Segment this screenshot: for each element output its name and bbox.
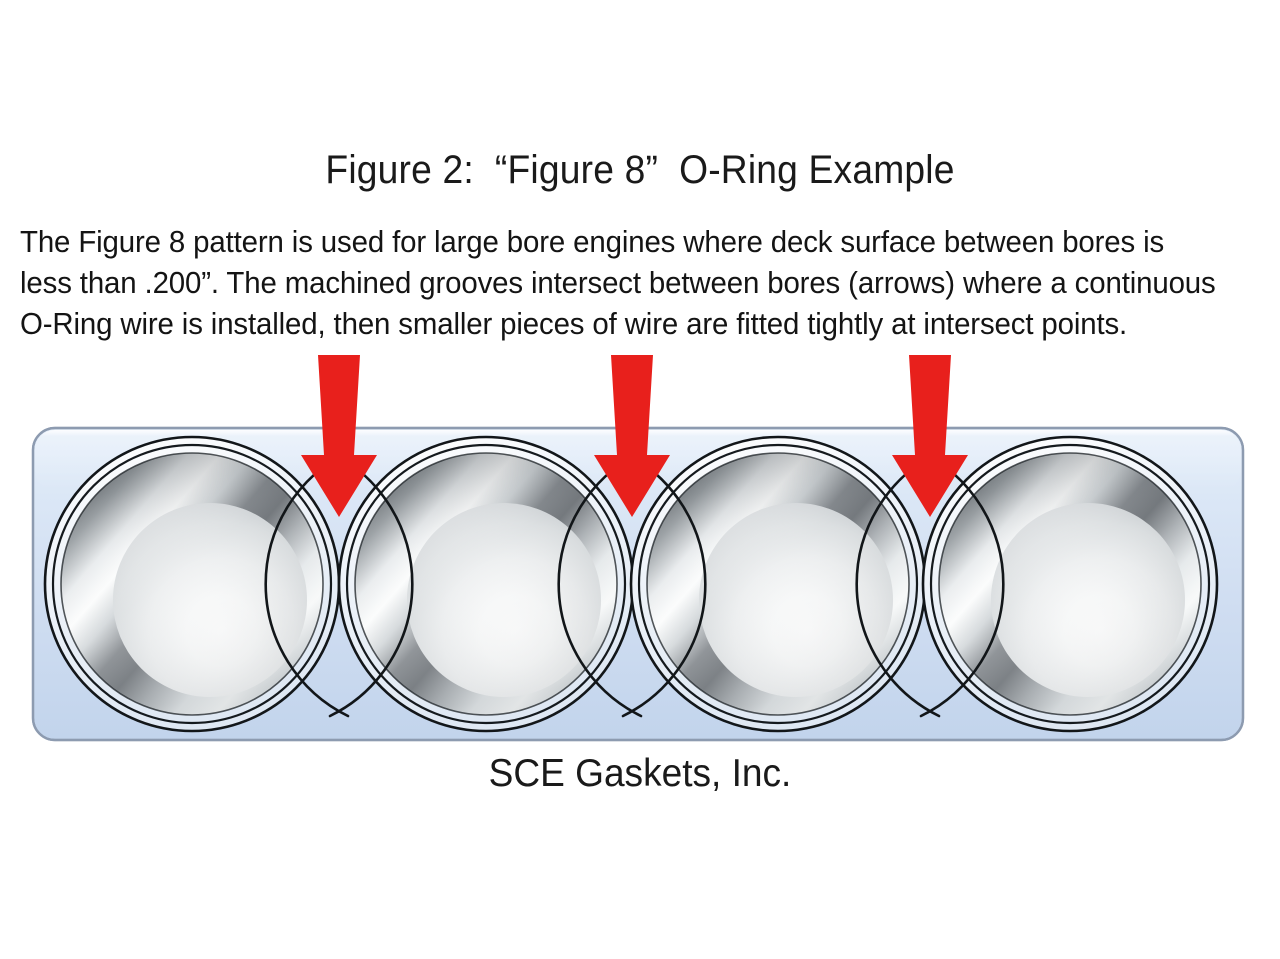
down-arrow-icon-1 xyxy=(301,355,377,517)
down-arrow-icon-2 xyxy=(594,355,670,517)
figure-root: Figure 2: “Figure 8” O-Ring Example The … xyxy=(0,0,1280,959)
company-caption: SCE Gaskets, Inc. xyxy=(32,752,1248,796)
intersect-arrows xyxy=(301,355,968,517)
gasket-diagram xyxy=(0,0,1280,959)
down-arrow-icon-3 xyxy=(892,355,968,517)
arrow-layer xyxy=(0,0,1280,959)
